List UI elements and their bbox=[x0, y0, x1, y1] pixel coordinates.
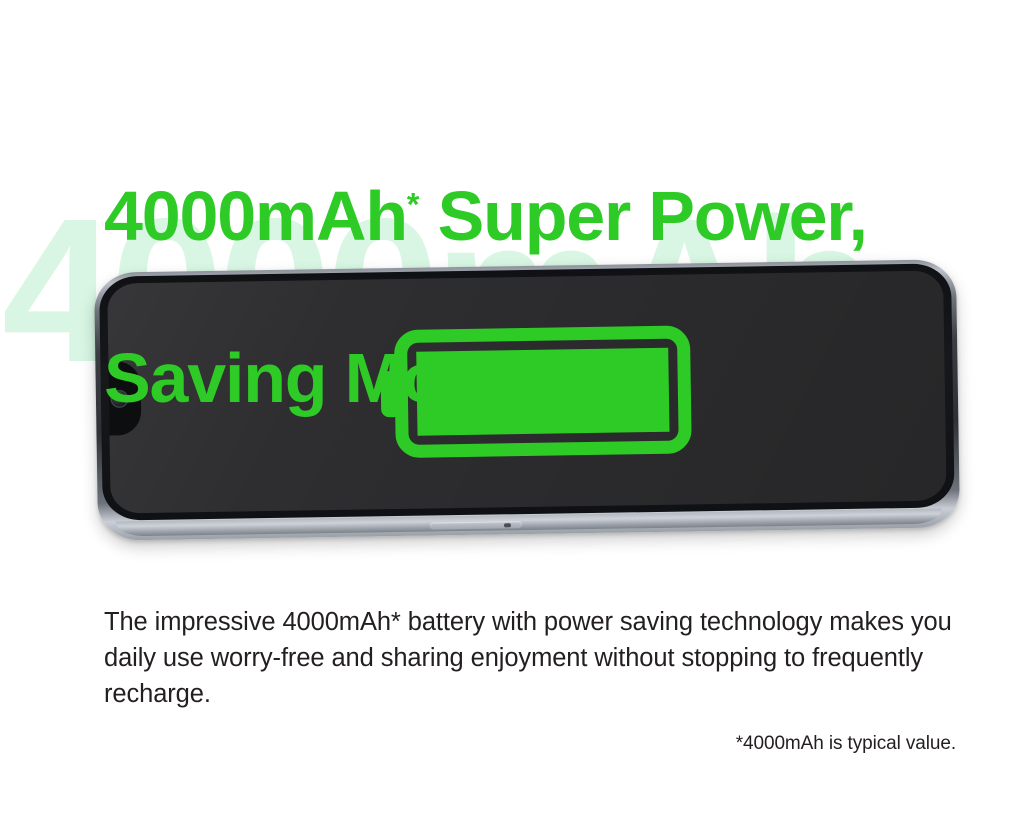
headline-line-1-rest: Super Power, bbox=[419, 177, 866, 255]
headline-line-2: Saving Mode bbox=[104, 338, 984, 419]
description-paragraph: The impressive 4000mAh* battery with pow… bbox=[104, 604, 960, 713]
microphone-hole-icon bbox=[504, 523, 511, 527]
footnote-disclaimer: *4000mAh is typical value. bbox=[736, 733, 956, 755]
product-feature-poster: 4000mAh 4000mAh* Super Power, Saving Mod… bbox=[0, 0, 1024, 837]
headline-capacity: 4000mAh bbox=[104, 177, 407, 255]
headline-line-1: 4000mAh* Super Power, bbox=[104, 176, 984, 257]
page-title: 4000mAh* Super Power, Saving Mode bbox=[104, 95, 984, 501]
asterisk-superscript: * bbox=[407, 187, 420, 223]
